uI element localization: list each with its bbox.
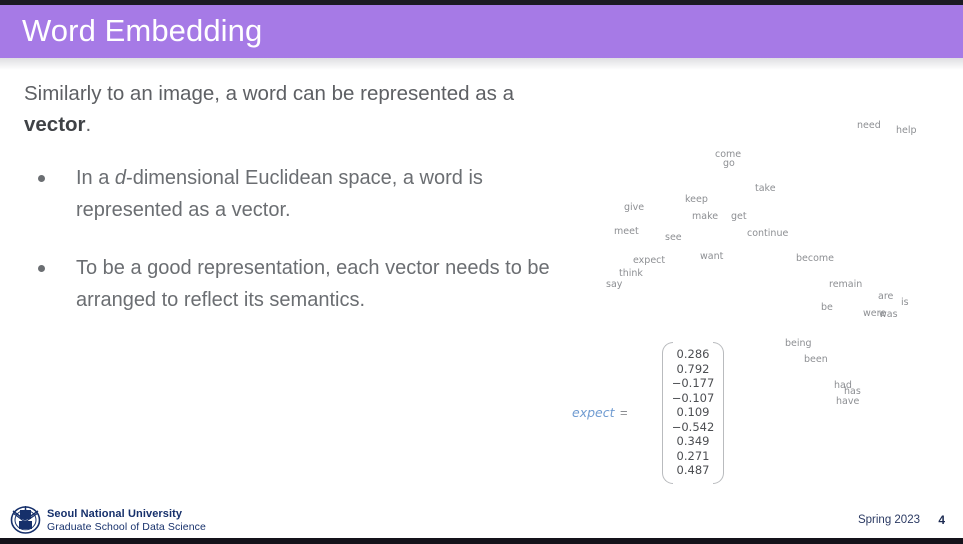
bullet-item-2: To be a good representation, each vector… — [24, 252, 569, 316]
scatter-word-label: keep — [685, 194, 708, 205]
scatter-word-label: want — [700, 251, 723, 262]
footer-school-name: Graduate School of Data Science — [47, 521, 206, 533]
scatter-word-label: expect — [633, 255, 665, 266]
bullet-dot-icon — [38, 175, 45, 182]
matrix-value: −0.542 — [662, 420, 724, 435]
scatter-word-label: go — [723, 158, 735, 169]
page-title: Word Embedding — [22, 11, 262, 51]
vector-word-label: expect — [572, 405, 615, 420]
scatter-word-label: is — [901, 297, 909, 308]
bullet-1-pre: In a — [76, 167, 115, 189]
footer-term: Spring 2023 — [858, 514, 920, 526]
bullet-item-1: In a d-dimensional Euclidean space, a wo… — [24, 162, 569, 226]
snu-logo-icon — [9, 504, 42, 535]
lead-text-bold: vector — [24, 113, 86, 136]
bullet-2-pre: To be a good representation, each vector… — [76, 257, 550, 311]
scatter-word-label: think — [619, 268, 643, 279]
scatter-word-label: was — [879, 309, 898, 320]
scatter-word-label: be — [821, 302, 833, 313]
scatter-word-label: continue — [747, 228, 788, 239]
vector-matrix: 0.2860.792−0.177−0.1070.109−0.5420.3490.… — [662, 342, 724, 484]
matrix-value: 0.109 — [662, 405, 724, 420]
footer-university-name: Seoul National University — [47, 508, 182, 520]
scatter-word-label: have — [836, 396, 859, 407]
scatter-word-label: being — [785, 338, 812, 349]
scatter-word-label: remain — [829, 279, 862, 290]
matrix-values: 0.2860.792−0.177−0.1070.109−0.5420.3490.… — [662, 347, 724, 478]
matrix-value: −0.107 — [662, 391, 724, 406]
scatter-word-label: become — [796, 253, 834, 264]
bullet-dot-icon — [38, 265, 45, 272]
lead-text-after: . — [86, 113, 92, 136]
matrix-value: 0.792 — [662, 362, 724, 377]
scatter-word-label: meet — [614, 226, 639, 237]
vector-figure: expect = 0.2860.792−0.177−0.1070.109−0.5… — [572, 340, 737, 486]
scatter-word-label: see — [665, 232, 682, 243]
scatter-word-label: been — [804, 354, 828, 365]
bullet-1-italic: d — [115, 167, 126, 189]
scatter-word-label: need — [857, 120, 881, 131]
matrix-value: 0.271 — [662, 449, 724, 464]
scatter-word-label: say — [606, 279, 622, 290]
lead-text-before: Similarly to an image, a word can be rep… — [24, 82, 514, 105]
bottom-edge-band — [0, 538, 963, 544]
lead-paragraph: Similarly to an image, a word can be rep… — [24, 78, 569, 140]
scatter-word-label: make — [692, 211, 718, 222]
title-bar: Word Embedding — [0, 5, 963, 58]
bullet-1-post: -dimensional Euclidean space, a word is … — [76, 167, 483, 221]
title-bar-shadow — [0, 58, 963, 70]
slide: Word Embedding Similarly to an image, a … — [0, 0, 963, 544]
scatter-word-label: help — [896, 125, 917, 136]
matrix-value: 0.487 — [662, 463, 724, 478]
matrix-value: −0.177 — [662, 376, 724, 391]
body-content: Similarly to an image, a word can be rep… — [24, 78, 569, 342]
bullet-list: In a d-dimensional Euclidean space, a wo… — [24, 162, 569, 316]
matrix-value: 0.349 — [662, 434, 724, 449]
footer-page-number: 4 — [938, 513, 945, 527]
vector-equals-sign: = — [620, 405, 628, 420]
scatter-word-label: get — [731, 211, 747, 222]
scatter-word-label: are — [878, 291, 893, 302]
matrix-value: 0.286 — [662, 347, 724, 362]
scatter-word-label: give — [624, 202, 644, 213]
scatter-word-label: take — [755, 183, 776, 194]
